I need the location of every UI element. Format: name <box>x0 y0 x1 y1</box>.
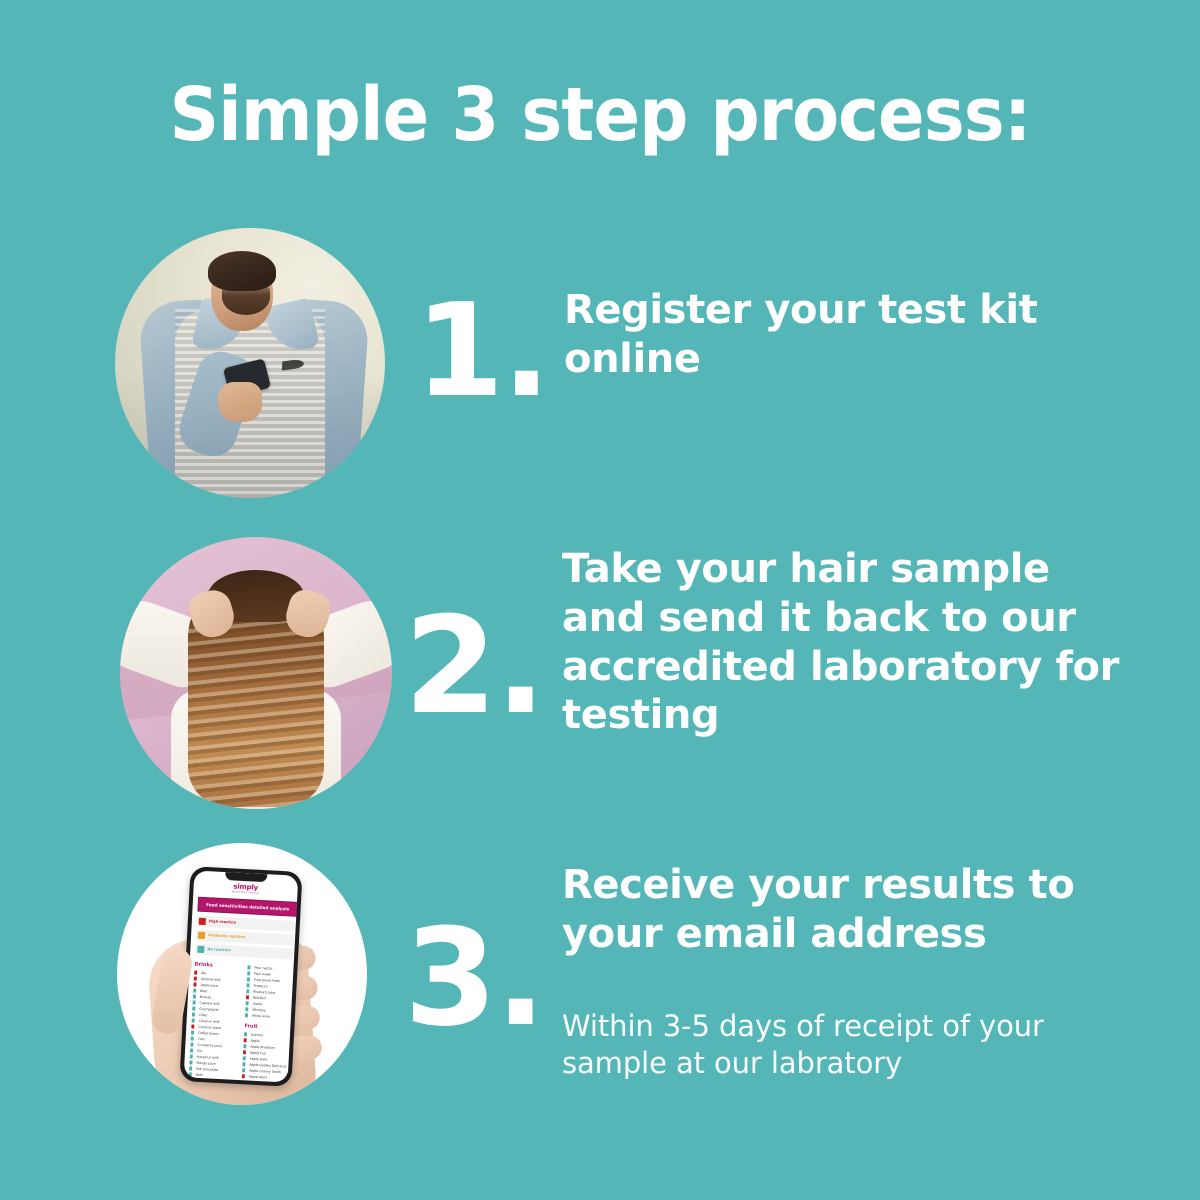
results-item-status-dot <box>242 1051 245 1054</box>
step-text-2: Take your hair sample and send it back t… <box>562 545 1122 740</box>
results-item-status-dot <box>189 1061 192 1064</box>
results-item-label: Kefir <box>195 1073 202 1077</box>
results-item-status-dot <box>241 1081 244 1083</box>
photo3-smartphone: simply sensitivity testing Food sensitiv… <box>179 866 302 1087</box>
results-item-status-dot <box>192 1001 195 1004</box>
photo1-hand <box>218 382 262 422</box>
results-item-status-dot <box>189 1067 192 1070</box>
results-item-status-dot <box>243 1033 246 1036</box>
results-list-right-top: Pear nectarPear waterPure prune freshPro… <box>244 965 294 1021</box>
results-item-status-dot <box>242 1063 245 1066</box>
results-list-item: White wine <box>244 1012 291 1020</box>
step-subtext-3: Within 3-5 days of receipt of your sampl… <box>562 1008 1122 1082</box>
results-item-status-dot <box>189 1055 192 1058</box>
legend-label-moderate: Moderate reaction <box>208 933 246 939</box>
step-row-3: simply sensitivity testing Food sensitiv… <box>0 843 1200 1113</box>
photo1-hair <box>208 251 276 291</box>
results-item-status-dot <box>244 1014 247 1017</box>
results-item-status-dot <box>190 1037 193 1040</box>
results-item-label: Apple Pink Lady <box>248 1081 274 1083</box>
results-item-status-dot <box>246 978 249 981</box>
results-list-left: AleAlmond milkApple juiceBeerBrandyCashe… <box>187 970 241 1083</box>
phone-results-columns: Drinks AleAlmond milkApple juiceBeerBran… <box>187 962 294 1083</box>
results-item-status-dot <box>193 989 196 992</box>
results-item-label: Beer <box>200 989 208 993</box>
results-item-status-dot <box>241 1075 244 1078</box>
results-column-right: Pear nectarPear waterPure prune freshPro… <box>240 965 294 1083</box>
photo-scene-2 <box>120 537 392 809</box>
legend-chip-moderate <box>197 932 204 939</box>
legend-label-none: No reaction <box>207 947 231 952</box>
legend-row-none: No reaction <box>195 944 293 960</box>
results-item-status-dot <box>191 1013 194 1016</box>
results-item-status-dot <box>245 996 248 999</box>
results-item-status-dot <box>247 966 250 969</box>
results-item-status-dot <box>193 977 196 980</box>
results-item-status-dot <box>193 983 196 986</box>
results-item-status-dot <box>189 1049 192 1052</box>
hand-holding-phone-results-photo: simply sensitivity testing Food sensitiv… <box>117 843 367 1105</box>
results-column-left: Drinks AleAlmond milkApple juiceBeerBran… <box>187 962 241 1083</box>
results-item-label: Ale <box>201 971 206 975</box>
results-item-label: White wine <box>251 1014 269 1019</box>
results-item-status-dot <box>242 1057 245 1060</box>
results-item-label: Cider <box>198 1013 207 1017</box>
woman-hair-photo <box>120 537 392 809</box>
photo-scene-1 <box>115 228 385 498</box>
results-item-status-dot <box>190 1043 193 1046</box>
results-item-status-dot <box>190 1031 193 1034</box>
results-item-status-dot <box>245 1002 248 1005</box>
results-item-label: Vodka <box>252 1002 262 1006</box>
results-item-status-dot <box>192 1007 195 1010</box>
results-item-status-dot <box>245 1008 248 1011</box>
photo-scene-3: simply sensitivity testing Food sensitiv… <box>117 843 367 1105</box>
results-item-status-dot <box>194 971 197 974</box>
phone-notch <box>225 872 267 882</box>
page-title: Simple 3 step process: <box>42 78 1158 152</box>
results-item-status-dot <box>247 972 250 975</box>
results-item-label: Cola <box>197 1037 204 1041</box>
step-number-1: 1. <box>415 288 549 416</box>
results-item-status-dot <box>246 984 249 987</box>
step-row-1: 1. Register your test kit online <box>0 228 1200 508</box>
phone-legend: High reaction Moderate reaction No react… <box>194 916 294 963</box>
results-item-status-dot <box>192 995 195 998</box>
phone-logo: simply sensitivity testing <box>193 881 297 897</box>
legend-label-high: High reaction <box>208 919 236 924</box>
results-item-label: Apple <box>250 1039 259 1043</box>
results-item-status-dot <box>191 1025 194 1028</box>
results-list-item: Kefir <box>188 1072 235 1080</box>
step-text-1: Register your test kit online <box>564 286 1124 384</box>
step-number-2: 2. <box>404 599 544 733</box>
results-item-status-dot <box>242 1069 245 1072</box>
results-item-label: Gin <box>196 1049 202 1053</box>
step-text-3: Receive your results to your email addre… <box>562 861 1122 959</box>
results-item-status-dot <box>243 1039 246 1042</box>
results-item-status-dot <box>191 1019 194 1022</box>
results-list-right-bottom: AcerolaAppleApple BraeburnApple FujiAppl… <box>240 1031 290 1082</box>
step-row-2: 2. Take your hair sample and send it bac… <box>0 537 1200 827</box>
phone-banner: Food sensitivities detailed analysis <box>197 897 298 917</box>
step-number-3: 3. <box>404 911 544 1045</box>
results-item-status-dot <box>243 1045 246 1048</box>
legend-chip-high <box>198 918 205 925</box>
results-item-status-dot <box>246 990 249 993</box>
infographic-canvas: Simple 3 step process: <box>0 0 1200 1200</box>
legend-chip-none <box>197 946 204 953</box>
man-with-phone-photo <box>115 228 385 498</box>
phone-screen: simply sensitivity testing Food sensitiv… <box>183 871 298 1083</box>
results-item-status-dot <box>188 1073 191 1076</box>
